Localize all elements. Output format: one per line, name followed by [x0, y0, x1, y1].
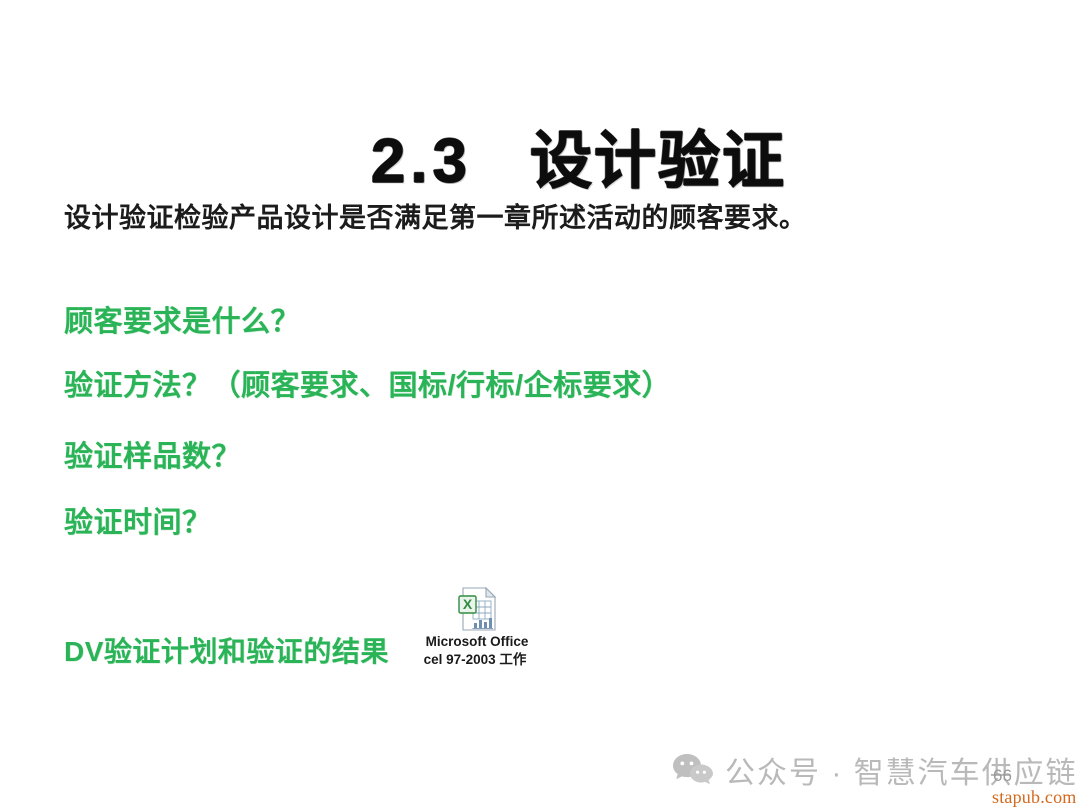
source-url: stapub.com [992, 787, 1077, 808]
page-title: 2.3设计验证 [0, 55, 1080, 269]
watermark: 公众号 · 智慧汽车供应链 [672, 748, 1078, 792]
wechat-icon [672, 752, 714, 788]
embedded-excel-object[interactable]: X Microsoft Office cel 97-2003 工作 [418, 586, 536, 666]
svg-text:X: X [463, 596, 473, 612]
watermark-text: 公众号 · 智慧汽车供应链 [725, 748, 1078, 792]
excel-caption-line-2: cel 97-2003 工作 [418, 651, 532, 666]
excel-icon-container: X [418, 586, 536, 632]
excel-file-icon[interactable]: X [456, 586, 498, 632]
slide-canvas: 2.3设计验证 设计验证检验产品设计是否满足第一章所述活动的顾客要求。 顾客要求… [0, 0, 1080, 810]
body-paragraph: 设计验证检验产品设计是否满足第一章所述活动的顾客要求。 [64, 196, 807, 235]
excel-caption-line-1: Microsoft Office [418, 633, 536, 651]
title-text: 设计验证 [530, 127, 786, 196]
title-number: 2.3 [371, 127, 472, 196]
page-number: 66 [993, 766, 1012, 786]
bullet-line-sample-count: 验证样品数？ [64, 433, 241, 475]
bullet-line-verification-time: 验证时间？ [64, 499, 212, 541]
bullet-line-verification-method: 验证方法？（顾客要求、国标/行标/企标要求） [64, 362, 671, 404]
bullet-line-customer-requirements: 顾客要求是什么？ [64, 298, 300, 340]
bullet-line-dv-plan-results: DV验证计划和验证的结果 [64, 630, 389, 670]
excel-object-caption: Microsoft Office cel 97-2003 工作 [418, 633, 536, 666]
